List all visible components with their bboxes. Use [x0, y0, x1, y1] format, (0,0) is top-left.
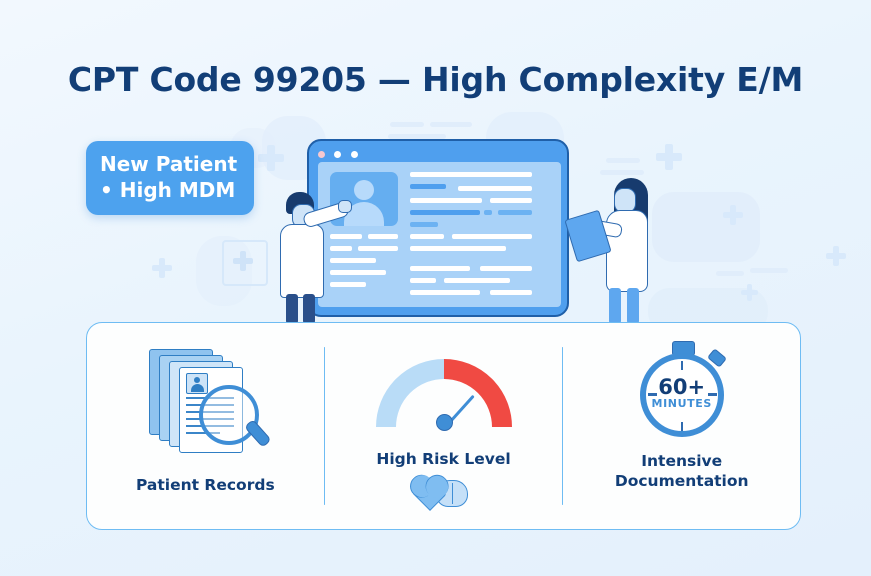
male-doctor-illustration — [276, 192, 348, 324]
feature-card: Patient Records High Risk Level — [86, 322, 801, 530]
content-line — [410, 172, 532, 177]
deco-line-7 — [600, 170, 644, 175]
doctor-legs — [627, 288, 639, 324]
feature-patient-records[interactable]: Patient Records — [87, 323, 324, 529]
feature-label-documentation: Documentation — [615, 471, 749, 491]
content-line — [410, 184, 446, 189]
deco-cross-icon-1 — [258, 145, 284, 171]
content-line — [368, 234, 398, 239]
content-line — [410, 222, 438, 227]
content-line — [484, 210, 492, 215]
feature-high-risk[interactable]: High Risk Level — [325, 323, 562, 529]
content-line — [410, 234, 444, 239]
clipboard-icon — [564, 210, 611, 263]
content-line — [458, 186, 532, 191]
deco-line-4 — [716, 271, 744, 276]
doctor-legs — [286, 294, 298, 324]
feature-label-high-risk: High Risk Level — [376, 449, 510, 469]
content-line — [410, 266, 470, 271]
record-avatar-icon — [186, 373, 208, 394]
content-line — [410, 210, 480, 215]
content-line — [490, 198, 532, 203]
content-line — [410, 278, 436, 283]
deco-blob-5 — [196, 236, 252, 306]
deco-line-1 — [390, 122, 424, 127]
feature-intensive-documentation[interactable]: 60+ MINUTES Intensive Documentation — [563, 323, 800, 529]
content-line — [490, 290, 532, 295]
deco-cross-box-icon-1 — [222, 240, 268, 286]
content-line — [358, 246, 398, 251]
content-line — [410, 246, 506, 251]
female-doctor-illustration — [592, 178, 662, 324]
doctor-coat — [280, 224, 324, 298]
window-minimize-dot-icon — [334, 151, 341, 158]
avatar-head — [354, 180, 374, 200]
deco-cross-icon-6 — [826, 246, 846, 266]
content-line — [480, 266, 532, 271]
status-badge: New Patient • High MDM — [86, 141, 254, 215]
window-content — [318, 162, 561, 307]
stopwatch-unit: MINUTES — [630, 397, 734, 410]
badge-line-2: • High MDM — [100, 177, 242, 203]
deco-line-6 — [606, 158, 640, 163]
feature-label-intensive: Intensive — [641, 451, 722, 471]
risk-gauge-icon — [376, 357, 512, 431]
patient-records-icon — [141, 345, 269, 449]
content-line — [444, 278, 510, 283]
content-line — [410, 198, 482, 203]
infographic-canvas: CPT Code 99205 — High Complexity E/M New… — [0, 0, 871, 576]
deco-cross-icon-7 — [233, 251, 253, 271]
magnifier-icon — [199, 385, 259, 445]
deco-cross-icon-4 — [723, 205, 743, 225]
heart-shape — [413, 477, 447, 511]
doctor-legs — [303, 294, 315, 324]
content-line — [410, 290, 480, 295]
deco-cross-outline-icon-8 — [652, 140, 682, 170]
content-line — [498, 210, 532, 215]
heart-brain-icon — [416, 477, 472, 507]
doctor-hand — [338, 200, 352, 213]
stopwatch-icon: 60+ MINUTES — [630, 339, 734, 443]
deco-cross-icon-5 — [741, 284, 758, 301]
deco-line-2 — [430, 122, 472, 127]
deco-cross-icon-2 — [656, 144, 682, 170]
stopwatch-value: 60+ — [630, 375, 734, 399]
window-maximize-dot-icon — [351, 151, 358, 158]
feature-label-patient-records: Patient Records — [136, 475, 275, 495]
deco-line-5 — [750, 268, 788, 273]
content-line — [452, 234, 532, 239]
deco-blob-3 — [652, 192, 760, 262]
badge-line-1: New Patient — [100, 151, 242, 177]
deco-cross-icon-3 — [152, 258, 172, 278]
doctor-legs — [609, 288, 621, 324]
window-title-bar — [309, 141, 567, 159]
window-close-dot-icon — [318, 151, 325, 158]
gauge-hub — [436, 414, 453, 431]
page-title: CPT Code 99205 — High Complexity E/M — [0, 60, 871, 99]
stopwatch-tick — [681, 422, 684, 431]
stopwatch-tick — [681, 361, 684, 370]
